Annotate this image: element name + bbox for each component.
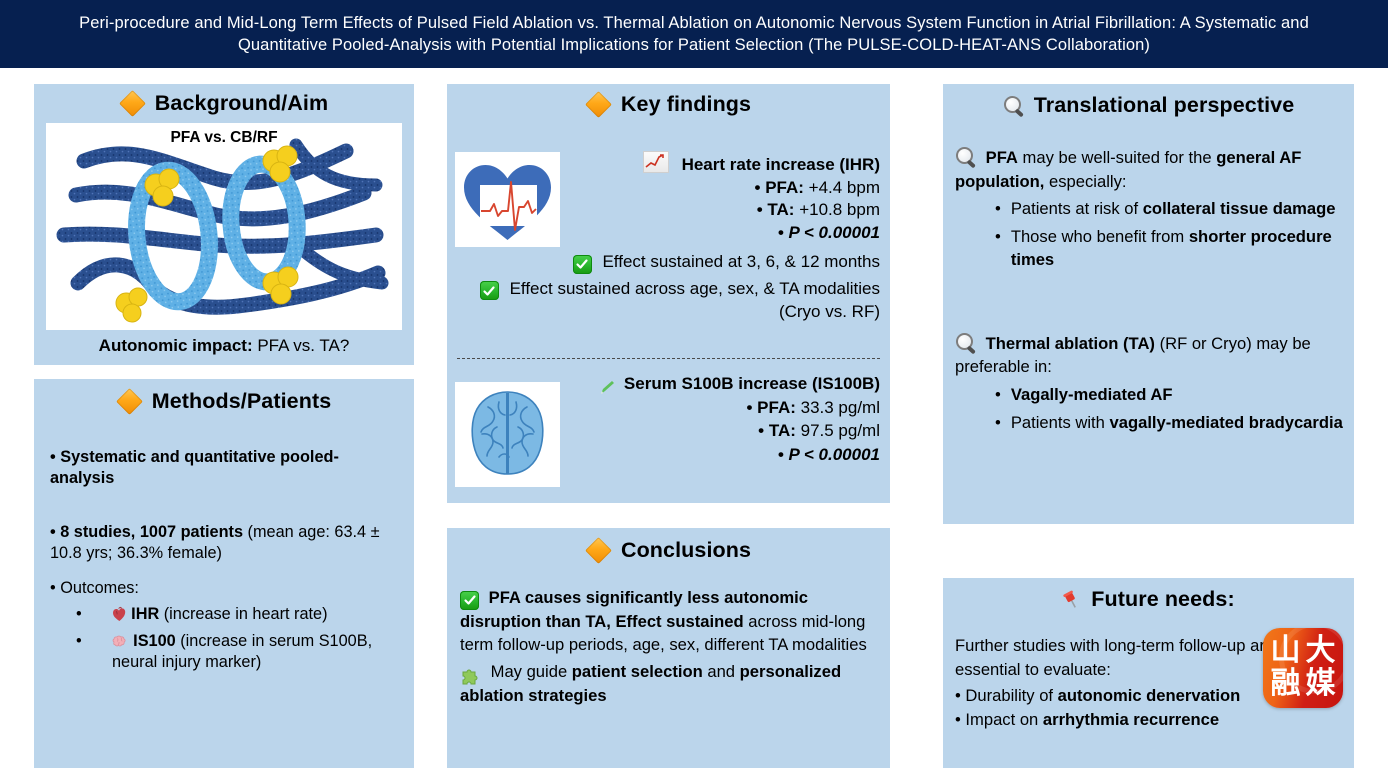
green-check-icon bbox=[480, 281, 499, 300]
list-item: • Those who benefit from shorter procedu… bbox=[955, 225, 1344, 272]
translational-spacer bbox=[955, 272, 1344, 332]
ihr-row-ta: • TA: +10.8 bpm bbox=[567, 199, 880, 222]
methods-bullet-2: • 8 studies, 1007 patients (mean age: 63… bbox=[50, 522, 402, 563]
panel-translational-perspective: Translational perspective PFA may be wel… bbox=[943, 84, 1354, 524]
conclusions-body: PFA causes significantly less autonomic … bbox=[460, 586, 880, 707]
bullet-dot-icon: • bbox=[995, 197, 1001, 221]
pulmonary-veins-ganglionated-plexi-diagram: PFA vs. CB/RF bbox=[46, 123, 402, 330]
is100b-row-pfa: • PFA: 33.3 pg/ml bbox=[565, 396, 880, 419]
poster-root: Peri-procedure and Mid-Long Term Effects… bbox=[0, 0, 1388, 781]
brain-icon bbox=[112, 633, 133, 650]
translational-block-2-list: • Vagally-mediated AF • Patients with va… bbox=[955, 383, 1344, 434]
list-item: • IS100 (increase in serum S100B, neural… bbox=[76, 631, 402, 672]
future-heading-label: Future needs: bbox=[1091, 587, 1234, 612]
bullet-dot-icon: • bbox=[995, 383, 1001, 407]
panel-conclusions: Conclusions PFA causes significantly les… bbox=[447, 528, 890, 768]
methods-outcome-1-rest: (increase in heart rate) bbox=[159, 605, 327, 623]
conclusions-heading-label: Conclusions bbox=[621, 538, 751, 563]
panel-methods-patients: Methods/Patients • Systematic and quanti… bbox=[34, 379, 414, 768]
ihr-row-pfa-label: • PFA: bbox=[755, 178, 804, 197]
tr1-item1-bold: collateral tissue damage bbox=[1143, 199, 1336, 218]
tr1-item1-text-a: Patients at risk of bbox=[1011, 199, 1143, 218]
future-bullet-2-text-a: • Impact on bbox=[955, 710, 1043, 729]
tr2-item2-text-a: Patients with bbox=[1011, 413, 1110, 432]
orange-diamond-icon bbox=[120, 93, 146, 115]
key-findings-check-1-row: Effect sustained at 3, 6, & 12 months bbox=[455, 250, 880, 274]
translational-body: PFA may be well-suited for the general A… bbox=[955, 146, 1344, 434]
is100b-title: Serum S100B increase (IS100B) bbox=[624, 374, 880, 393]
translational-heading-label: Translational perspective bbox=[1034, 93, 1295, 118]
background-heading-row: Background/Aim bbox=[34, 91, 414, 116]
logo-char-2: 大 bbox=[1306, 636, 1336, 666]
methods-heading-row: Methods/Patients bbox=[34, 389, 414, 414]
logo-char-4: 媒 bbox=[1306, 669, 1336, 699]
translational-block-1: PFA may be well-suited for the general A… bbox=[955, 146, 1344, 272]
is100b-row-pfa-value: 33.3 pg/ml bbox=[796, 398, 880, 417]
conclusions-line-2-bold-a: patient selection bbox=[572, 662, 703, 681]
pen-icon bbox=[592, 376, 614, 396]
is100b-row-pfa-label: • PFA: bbox=[746, 398, 795, 417]
is100b-pvalue: • P < 0.00001 bbox=[565, 443, 880, 466]
ihr-row-ta-value: +10.8 bpm bbox=[794, 200, 880, 219]
methods-bullet-1: • Systematic and quantitative pooled-ana… bbox=[50, 447, 402, 488]
translational-block-2: Thermal ablation (TA) (RF or Cryo) may b… bbox=[955, 332, 1344, 434]
list-item: • Patients with vagally-mediated bradyca… bbox=[955, 411, 1344, 435]
poster-title-bar: Peri-procedure and Mid-Long Term Effects… bbox=[0, 0, 1388, 68]
panel-future-needs: Future needs: Further studies with long-… bbox=[943, 578, 1354, 768]
background-footer: Autonomic impact: PFA vs. TA? bbox=[34, 336, 414, 356]
future-bullet-2-bold: arrhythmia recurrence bbox=[1043, 710, 1219, 729]
methods-heading-label: Methods/Patients bbox=[152, 389, 332, 414]
magnifier-icon bbox=[955, 146, 977, 168]
shandong-university-media-logo: 山 大 融 媒 bbox=[1263, 628, 1343, 708]
ihr-title-row: Heart rate increase (IHR) bbox=[567, 151, 880, 177]
conclusions-line-2-a: May guide bbox=[491, 662, 572, 681]
conclusions-line-1: PFA causes significantly less autonomic … bbox=[460, 586, 880, 657]
ihr-pvalue: • P < 0.00001 bbox=[567, 222, 880, 245]
key-findings-divider bbox=[457, 358, 880, 359]
bullet-dot-icon: • bbox=[76, 631, 102, 672]
ihr-row-ta-label: • TA: bbox=[757, 200, 795, 219]
bullet-dot-icon: • bbox=[76, 604, 102, 625]
list-item: • IHR (increase in heart rate) bbox=[76, 604, 402, 625]
background-image-caption: PFA vs. CB/RF bbox=[46, 129, 402, 147]
tr2-item2-bold: vagally-mediated bradycardia bbox=[1110, 413, 1343, 432]
anatomical-heart-icon bbox=[112, 606, 131, 623]
background-heading-label: Background/Aim bbox=[155, 91, 328, 116]
list-item: • Vagally-mediated AF bbox=[955, 383, 1344, 407]
list-item: • Patients at risk of collateral tissue … bbox=[955, 197, 1344, 221]
key-findings-check-2-row: Effect sustained across age, sex, & TA m… bbox=[455, 277, 880, 324]
bullet-dot-icon: • bbox=[995, 411, 1001, 435]
methods-body: • Systematic and quantitative pooled-ana… bbox=[50, 447, 402, 673]
tr2-item1-bold: Vagally-mediated AF bbox=[1011, 385, 1173, 404]
logo-characters: 山 大 融 媒 bbox=[1263, 628, 1343, 708]
panel-key-findings: Key findings bbox=[447, 84, 890, 503]
future-heading-row: Future needs: bbox=[943, 587, 1354, 612]
logo-char-1: 山 bbox=[1271, 636, 1301, 666]
magnifier-icon bbox=[1003, 95, 1025, 117]
tr1-item2-text-a: Those who benefit from bbox=[1011, 227, 1189, 246]
is100b-title-row: Serum S100B increase (IS100B) bbox=[565, 372, 880, 396]
magnifier-icon bbox=[955, 332, 977, 354]
key-findings-checks: Effect sustained at 3, 6, & 12 months Ef… bbox=[455, 246, 880, 323]
conclusions-line-2-b: and bbox=[703, 662, 740, 681]
puzzle-piece-icon bbox=[460, 664, 482, 684]
chart-increasing-icon bbox=[643, 151, 669, 173]
heart-ecg-icon bbox=[455, 152, 560, 247]
translational-block-1-bold-a: PFA bbox=[986, 148, 1018, 167]
future-bullet-1-text-a: • Durability of bbox=[955, 686, 1058, 705]
bullet-dot-icon: • bbox=[995, 225, 1001, 272]
is100b-row-ta-value: 97.5 pg/ml bbox=[796, 421, 880, 440]
translational-block-1-text-b: especially: bbox=[1044, 172, 1126, 191]
is100b-row-ta-label: • TA: bbox=[758, 421, 796, 440]
pushpin-icon bbox=[1062, 590, 1082, 610]
translational-block-1-text-a: may be well-suited for the bbox=[1018, 148, 1216, 167]
ihr-title: Heart rate increase (IHR) bbox=[682, 155, 880, 174]
brain-icon bbox=[455, 382, 560, 487]
methods-outcomes-list: • IHR (increase in heart rate) bbox=[76, 604, 402, 672]
methods-bullet-2-bold: • 8 studies, 1007 patients bbox=[50, 523, 243, 541]
ihr-row-pfa: • PFA: +4.4 bpm bbox=[567, 177, 880, 200]
is100b-row-ta: • TA: 97.5 pg/ml bbox=[565, 419, 880, 442]
orange-diamond-icon bbox=[586, 540, 612, 562]
panel-background-aim: Background/Aim bbox=[34, 84, 414, 365]
methods-bullet-3: • Outcomes: bbox=[50, 578, 402, 599]
key-findings-ihr-block: Heart rate increase (IHR) • PFA: +4.4 bp… bbox=[567, 151, 880, 244]
conclusions-heading-row: Conclusions bbox=[447, 538, 890, 563]
key-findings-heading-label: Key findings bbox=[621, 92, 751, 117]
conclusions-line-2: May guide patient selection and personal… bbox=[460, 660, 880, 708]
key-findings-check-1: Effect sustained at 3, 6, & 12 months bbox=[602, 252, 880, 271]
key-findings-is100b-block: Serum S100B increase (IS100B) • PFA: 33.… bbox=[565, 372, 880, 466]
green-check-icon bbox=[573, 255, 592, 274]
pv-gp-svg bbox=[46, 123, 402, 330]
future-bullet-1-bold: autonomic denervation bbox=[1058, 686, 1241, 705]
translational-block-2-bold-a: Thermal ablation (TA) bbox=[986, 334, 1155, 353]
key-findings-heading-row: Key findings bbox=[447, 92, 890, 117]
logo-char-3: 融 bbox=[1271, 669, 1301, 699]
methods-outcome-2-bold: IS100 bbox=[133, 632, 176, 650]
methods-outcome-1-bold: IHR bbox=[131, 605, 159, 623]
background-footer-rest: PFA vs. TA? bbox=[253, 336, 350, 355]
poster-title: Peri-procedure and Mid-Long Term Effects… bbox=[44, 12, 1344, 57]
ihr-row-pfa-value: +4.4 bpm bbox=[804, 178, 880, 197]
translational-heading-row: Translational perspective bbox=[943, 93, 1354, 118]
translational-block-1-list: • Patients at risk of collateral tissue … bbox=[955, 197, 1344, 272]
green-check-icon bbox=[460, 591, 479, 610]
key-findings-check-2: Effect sustained across age, sex, & TA m… bbox=[510, 279, 880, 322]
future-bullet-2: • Impact on arrhythmia recurrence bbox=[955, 708, 1344, 732]
background-footer-bold: Autonomic impact: bbox=[99, 336, 253, 355]
orange-diamond-icon bbox=[117, 391, 143, 413]
orange-diamond-icon bbox=[586, 94, 612, 116]
